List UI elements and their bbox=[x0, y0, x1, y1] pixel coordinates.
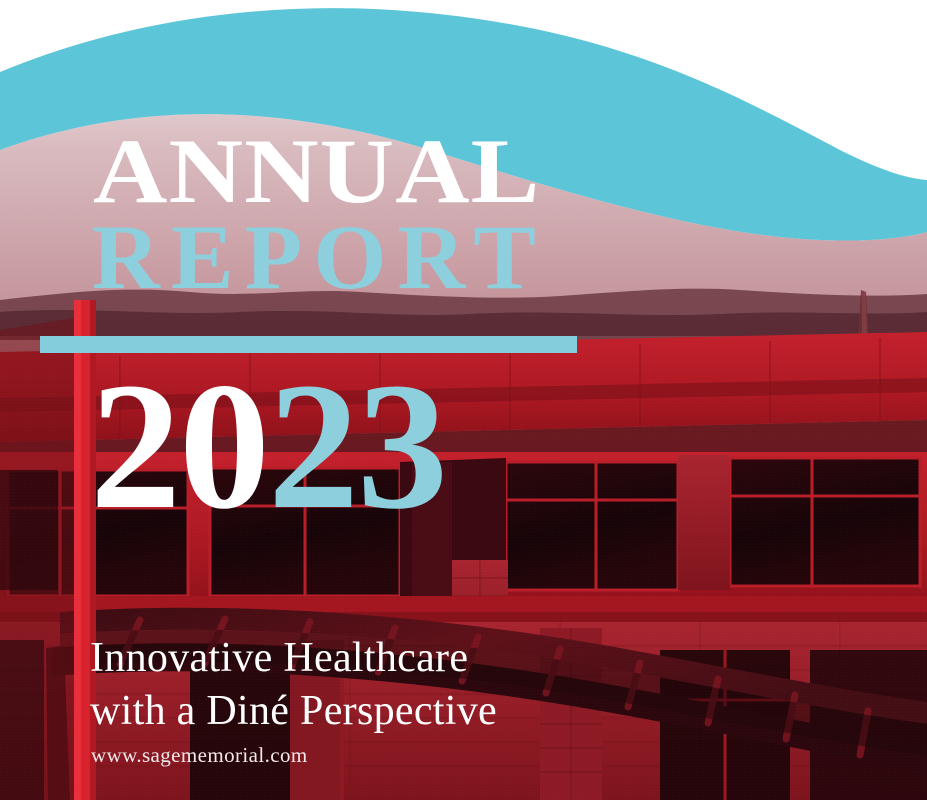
annual-report-cover: ANNUAL REPORT 2023 Innovative Healthcare… bbox=[0, 0, 927, 800]
title-annual: ANNUAL bbox=[93, 125, 541, 217]
year-2023: 2023 bbox=[90, 356, 446, 538]
tagline: Innovative Healthcare with a Diné Perspe… bbox=[90, 632, 497, 738]
title-report: REPORT bbox=[92, 211, 547, 303]
year-second-half: 23 bbox=[268, 346, 446, 547]
year-first-half: 20 bbox=[90, 346, 268, 547]
website-url: www.sagememorial.com bbox=[91, 745, 308, 766]
